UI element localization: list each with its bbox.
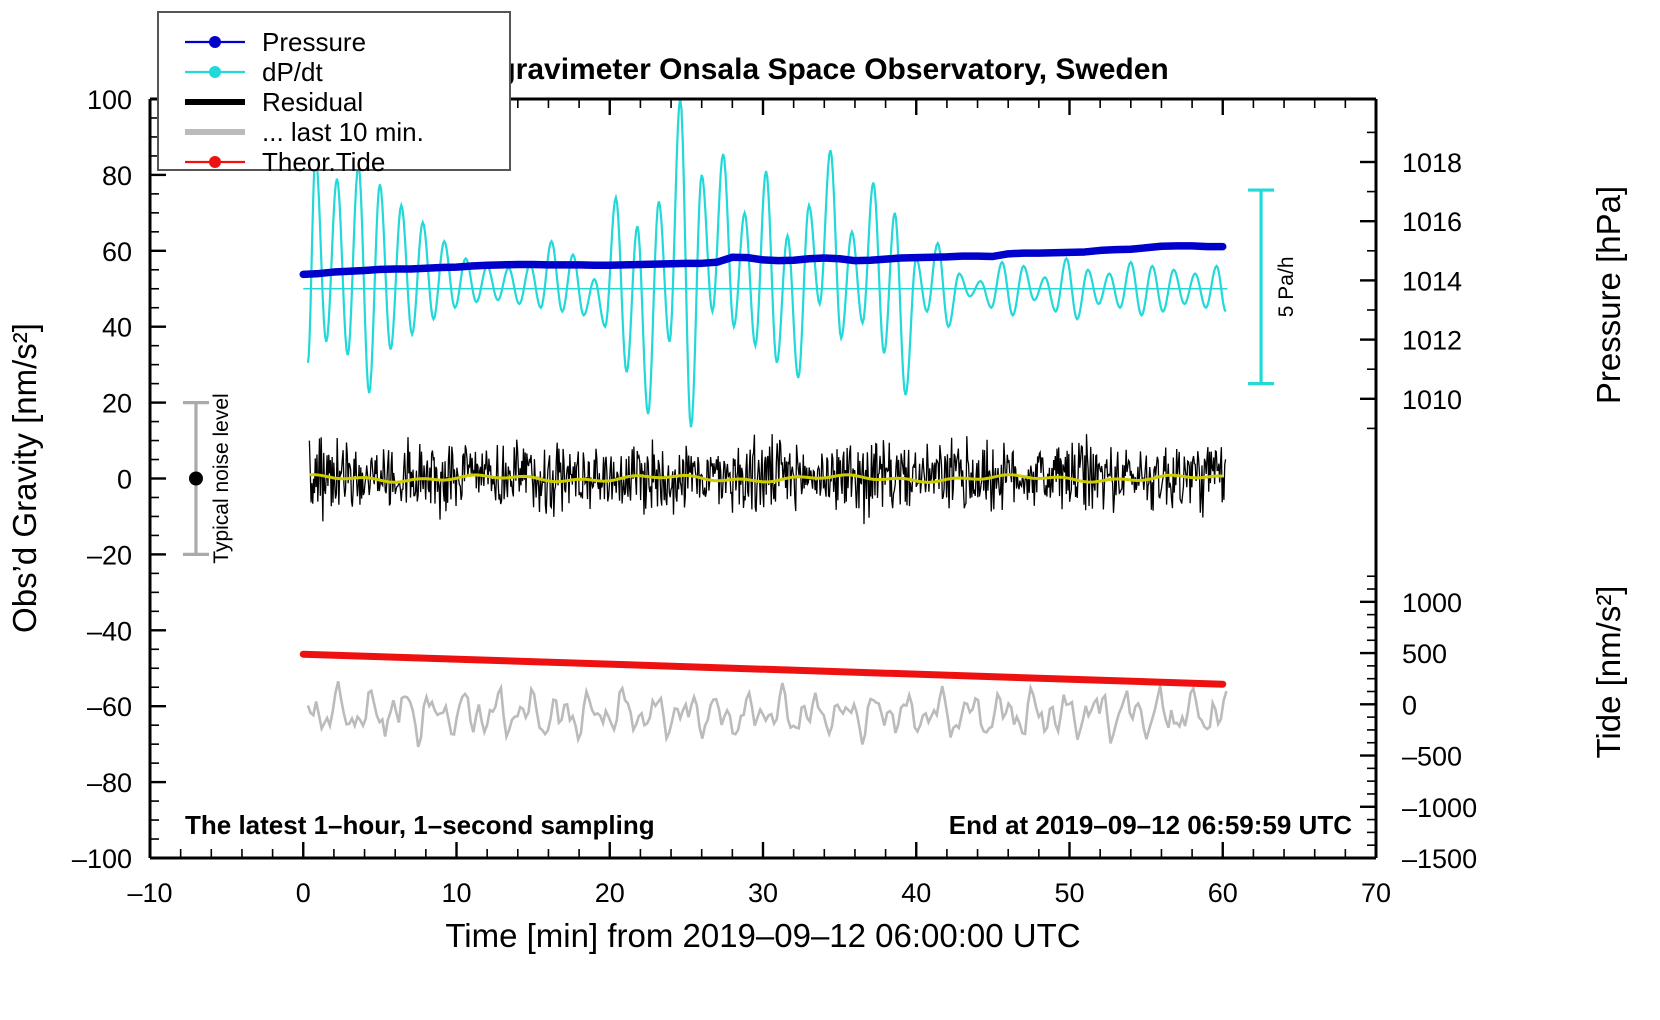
legend-marker-icon (209, 36, 221, 48)
y-tick-label: 100 (87, 85, 132, 115)
y-tick-label: 40 (102, 313, 132, 343)
y-axis-label-left: Obs’d Gravity [nm/s²] (6, 323, 43, 633)
legend-label: Pressure (262, 27, 366, 57)
pressure-tick-label: 1010 (1402, 385, 1462, 415)
legend-label: dP/dt (262, 57, 323, 87)
y-tick-label: –80 (87, 768, 132, 798)
tide-tick-label: 1000 (1402, 588, 1462, 618)
x-tick-label: 30 (748, 878, 778, 908)
x-tick-label: 40 (901, 878, 931, 908)
legend-label: ... last 10 min. (262, 117, 424, 147)
x-tick-label: –10 (127, 878, 172, 908)
y-tick-label: –40 (87, 616, 132, 646)
y-tick-label: 0 (117, 465, 132, 495)
tide-tick-label: –500 (1402, 742, 1462, 772)
legend-label: Theor.Tide (262, 147, 385, 177)
gravimeter-plot: –10010203040506070 –100–80–60–40–2002040… (0, 0, 1660, 1020)
tide-tick-label: –1000 (1402, 793, 1477, 823)
y-tick-label: –60 (87, 692, 132, 722)
y-tick-label: –20 (87, 540, 132, 570)
pressure-tick-label: 1016 (1402, 207, 1462, 237)
x-tick-label: 10 (441, 878, 471, 908)
x-tick-label: 50 (1054, 878, 1084, 908)
legend-marker-icon (209, 66, 221, 78)
x-axis-label: Time [min] from 2019–09–12 06:00:00 UTC (445, 917, 1080, 954)
sampling-note: The latest 1–hour, 1–second sampling (185, 810, 655, 840)
y-tick-label: 60 (102, 237, 132, 267)
legend-label: Residual (262, 87, 363, 117)
y-tick-label: 80 (102, 161, 132, 191)
dpdt-scale-label: 5 Pa/h (1275, 256, 1298, 317)
legend-marker-icon (209, 156, 221, 168)
x-tick-label: 0 (296, 878, 311, 908)
legend: PressuredP/dtResidual... last 10 min.The… (158, 12, 510, 177)
x-tick-label: 70 (1361, 878, 1391, 908)
tide-tick-label: 500 (1402, 639, 1447, 669)
y-tick-label: 20 (102, 389, 132, 419)
pressure-tick-label: 1012 (1402, 326, 1462, 356)
end-time-note: End at 2019–09–12 06:59:59 UTC (949, 810, 1352, 840)
noise-bar-dot (189, 472, 203, 486)
pressure-tick-label: 1014 (1402, 266, 1462, 296)
x-tick-label: 60 (1208, 878, 1238, 908)
chart-page: –10010203040506070 –100–80–60–40–2002040… (0, 0, 1660, 1020)
noise-level-label: Typical noise level (210, 393, 233, 563)
tide-tick-label: 0 (1402, 690, 1417, 720)
tide-tick-label: –1500 (1402, 844, 1477, 874)
y-axis-label-tide: Tide [nm/s²] (1590, 586, 1627, 759)
x-tick-label: 20 (595, 878, 625, 908)
y-tick-label: –100 (72, 844, 132, 874)
pressure-tick-label: 1018 (1402, 148, 1462, 178)
y-axis-label-pressure: Pressure [hPa] (1590, 186, 1627, 404)
